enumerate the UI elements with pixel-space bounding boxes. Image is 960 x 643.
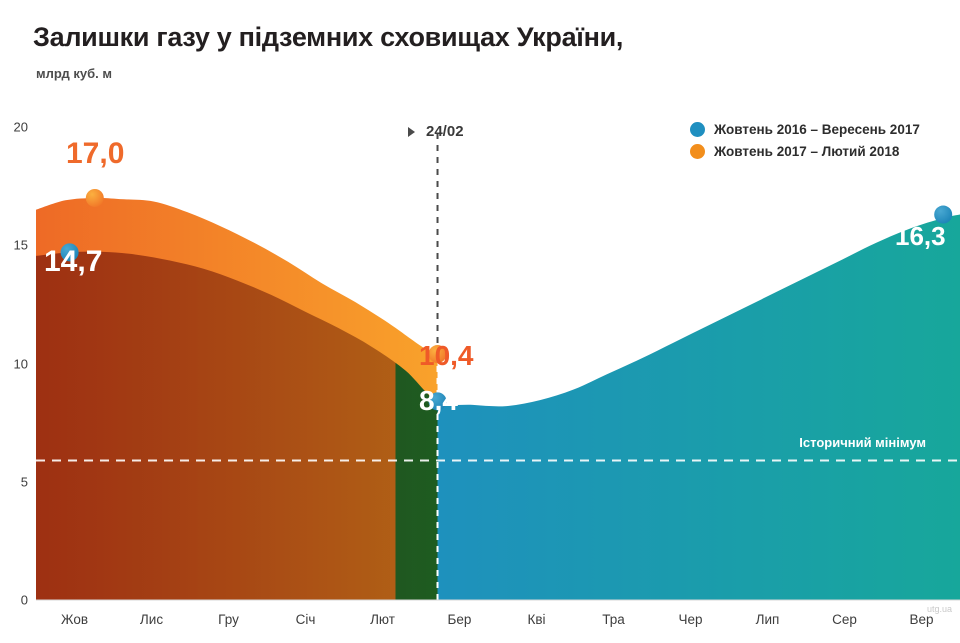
data-point-marker-orange	[86, 189, 104, 207]
legend-color-dot-icon	[690, 144, 705, 159]
y-axis-tick-label: 0	[0, 593, 28, 608]
value-label-start: 14,7	[44, 245, 102, 279]
x-axis-tick-label: Чер	[678, 612, 702, 627]
x-axis-tick-label: Жов	[61, 612, 88, 627]
legend-item-label: Жовтень 2017 – Лютий 2018	[714, 144, 899, 159]
x-axis-tick-label: Січ	[296, 612, 316, 627]
value-label-feb-blue: 8,4	[419, 385, 458, 417]
x-axis-tick-label: Лип	[756, 612, 780, 627]
x-axis-tick-label: Бер	[448, 612, 472, 627]
chart-legend: Жовтень 2016 – Вересень 2017Жовтень 2017…	[690, 122, 920, 159]
y-axis-tick-label: 20	[0, 120, 28, 135]
legend-item[interactable]: Жовтень 2017 – Лютий 2018	[690, 144, 920, 159]
legend-item-label: Жовтень 2016 – Вересень 2017	[714, 122, 920, 137]
y-axis-tick-label: 15	[0, 238, 28, 253]
y-axis-tick-label: 10	[0, 356, 28, 371]
x-axis-tick-label: Лис	[140, 612, 163, 627]
chart-canvas	[0, 0, 960, 643]
x-axis-tick-label: Лют	[370, 612, 395, 627]
play-triangle-icon	[408, 127, 415, 137]
value-label-feb-orange: 10,4	[419, 340, 474, 372]
historical-minimum-label: Історичний мінімум	[799, 435, 926, 450]
x-axis-tick-label: Кві	[527, 612, 545, 627]
x-axis-tick-label: Сер	[832, 612, 857, 627]
watermark: utg.ua	[927, 604, 952, 614]
x-axis-tick-label: Вер	[909, 612, 933, 627]
y-axis-tick-label: 5	[0, 474, 28, 489]
legend-item[interactable]: Жовтень 2016 – Вересень 2017	[690, 122, 920, 137]
chart-plot-area: 05101520 ЖовЛисГруСічЛютБерКвіТраЧерЛипС…	[0, 0, 960, 643]
value-label-peak: 17,0	[66, 137, 124, 171]
value-label-final: 16,3	[895, 221, 946, 252]
legend-color-dot-icon	[690, 122, 705, 137]
x-axis-tick-label: Гру	[218, 612, 239, 627]
x-axis-tick-label: Тра	[602, 612, 625, 627]
event-date-label: 24/02	[426, 123, 464, 140]
